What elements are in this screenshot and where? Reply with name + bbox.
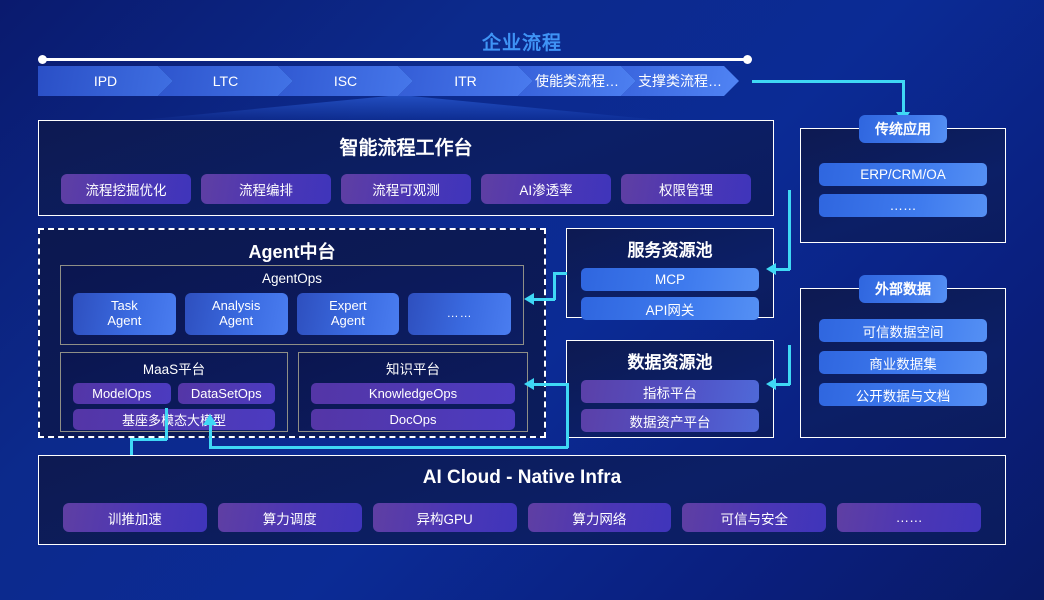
data-pool-item-asset[interactable]: 数据资产平台 — [581, 409, 759, 432]
maas-title: MaaS平台 — [61, 358, 287, 378]
knowledge-item-knowledgeops[interactable]: KnowledgeOps — [311, 383, 515, 404]
knowledge-title: 知识平台 — [299, 358, 527, 378]
chain-item-ipd[interactable]: IPD — [38, 66, 173, 96]
maas-item-datasetops[interactable]: DataSetOps — [178, 383, 276, 404]
chain-label: LTC — [213, 73, 238, 89]
service-pool-item-mcp[interactable]: MCP — [581, 268, 759, 291]
knowledge-item-docops[interactable]: DocOps — [311, 409, 515, 430]
workbench-items: 流程挖掘优化 流程编排 流程可观测 AI渗透率 权限管理 — [39, 174, 773, 204]
connector-data-to-hub-h — [534, 383, 567, 386]
agent-card-expert[interactable]: Expert Agent — [297, 293, 400, 335]
maas-item-foundation-model[interactable]: 基座多模态大模型 — [73, 409, 275, 430]
arrow-pool-to-maas — [203, 414, 217, 425]
data-pool-items: 指标平台 数据资产平台 — [567, 380, 773, 432]
connector-ext-to-data-h — [776, 383, 790, 386]
chain-item-ltc[interactable]: LTC — [158, 66, 293, 96]
knowledge-row-2: DocOps — [299, 409, 527, 430]
rail-dot-left — [38, 55, 47, 64]
traditional-app-item-erp[interactable]: ERP/CRM/OA — [819, 163, 987, 186]
chain-label: IPD — [94, 73, 117, 89]
connector-chain-to-trad — [752, 80, 904, 83]
agent-card-more[interactable]: …… — [408, 293, 511, 335]
service-pool-items: MCP API网关 — [567, 268, 773, 320]
maas-row-1: ModelOps DataSetOps — [61, 383, 287, 404]
agent-card-analysis[interactable]: Analysis Agent — [185, 293, 288, 335]
service-pool-title: 服务资源池 — [567, 236, 773, 261]
arrow-trad-to-svc — [766, 263, 776, 275]
chain-label: ITR — [454, 73, 477, 89]
connector-pool-to-maas-v1 — [566, 383, 569, 448]
agent-card-task[interactable]: Task Agent — [73, 293, 176, 335]
infra-item-more[interactable]: …… — [837, 503, 981, 532]
chain-label: 支撑类流程… — [638, 71, 722, 91]
connector-svc-to-hub-h2 — [534, 298, 555, 301]
connector-pool-to-maas-v2 — [209, 424, 212, 448]
connector-trad-to-svc-v — [788, 190, 791, 270]
infra-item-compute-scheduling[interactable]: 算力调度 — [218, 503, 362, 532]
workbench-item-permissions[interactable]: 权限管理 — [621, 174, 751, 204]
infra-item-compute-network[interactable]: 算力网络 — [528, 503, 672, 532]
agent-card-line1: Task — [111, 299, 138, 314]
chain-item-enabling[interactable]: 使能类流程… — [518, 66, 636, 96]
page-title: 企业流程 — [0, 28, 1044, 55]
connector-hub-to-infra-h — [130, 438, 167, 441]
infra-panel: AI Cloud - Native Infra 训推加速 算力调度 异构GPU … — [38, 455, 1006, 545]
knowledge-box: 知识平台 KnowledgeOps DocOps — [298, 352, 528, 432]
service-pool-item-api-gateway[interactable]: API网关 — [581, 297, 759, 320]
diagram-canvas: 企业流程 IPD LTC ISC ITR 使能类流程… 支撑类流程… 智能流程工… — [0, 0, 1044, 600]
connector-svc-to-hub-v — [553, 272, 556, 300]
agentops-cards: Task Agent Analysis Agent Expert Agent …… — [61, 293, 523, 335]
infra-item-trust-security[interactable]: 可信与安全 — [682, 503, 826, 532]
agent-card-line2: Agent — [331, 314, 365, 329]
agent-card-line1: Analysis — [212, 299, 260, 314]
chain-glow — [120, 96, 680, 122]
workbench-item-observability[interactable]: 流程可观测 — [341, 174, 471, 204]
agent-hub-title: Agent中台 — [40, 238, 544, 264]
workbench-panel: 智能流程工作台 流程挖掘优化 流程编排 流程可观测 AI渗透率 权限管理 — [38, 120, 774, 216]
infra-item-training-acceleration[interactable]: 训推加速 — [63, 503, 207, 532]
connector-trad-to-svc-h — [776, 268, 790, 271]
maas-row-2: 基座多模态大模型 — [61, 409, 287, 430]
traditional-app-items: ERP/CRM/OA …… — [801, 163, 1005, 217]
agentops-box: AgentOps Task Agent Analysis Agent Exper… — [60, 265, 524, 345]
process-chain: IPD LTC ISC ITR 使能类流程… 支撑类流程… — [38, 66, 724, 96]
external-data-item-commercial[interactable]: 商业数据集 — [819, 351, 987, 374]
agentops-title: AgentOps — [61, 271, 523, 286]
traditional-app-tag: 传统应用 — [859, 115, 947, 143]
chain-item-supporting[interactable]: 支撑类流程… — [621, 66, 739, 96]
rail-dot-right — [743, 55, 752, 64]
external-data-item-trusted-space[interactable]: 可信数据空间 — [819, 319, 987, 342]
maas-box: MaaS平台 ModelOps DataSetOps 基座多模态大模型 — [60, 352, 288, 432]
connector-hub-to-infra-v1 — [165, 408, 168, 440]
traditional-app-panel: 传统应用 ERP/CRM/OA …… — [800, 128, 1006, 243]
arrow-ext-to-data — [766, 378, 776, 390]
infra-title: AI Cloud - Native Infra — [39, 467, 1005, 489]
external-data-item-public-docs[interactable]: 公开数据与文档 — [819, 383, 987, 406]
chain-item-isc[interactable]: ISC — [278, 66, 413, 96]
agent-card-line1: Expert — [329, 299, 367, 314]
connector-chain-to-trad-v — [902, 80, 905, 114]
knowledge-row-1: KnowledgeOps — [299, 383, 527, 404]
external-data-tag: 外部数据 — [859, 275, 947, 303]
traditional-app-item-more[interactable]: …… — [819, 194, 987, 217]
infra-item-heterogeneous-gpu[interactable]: 异构GPU — [373, 503, 517, 532]
workbench-item-orchestration[interactable]: 流程编排 — [201, 174, 331, 204]
connector-svc-to-hub-h1 — [553, 272, 567, 275]
maas-item-modelops[interactable]: ModelOps — [73, 383, 171, 404]
workbench-item-ai-penetration[interactable]: AI渗透率 — [481, 174, 611, 204]
agent-card-line1: …… — [447, 307, 473, 320]
chain-item-itr[interactable]: ITR — [398, 66, 533, 96]
connector-pool-to-maas-h — [209, 446, 568, 449]
infra-items: 训推加速 算力调度 异构GPU 算力网络 可信与安全 …… — [39, 503, 1005, 532]
process-rail — [40, 58, 750, 61]
data-pool-title: 数据资源池 — [567, 348, 773, 373]
agent-card-line2: Agent — [107, 314, 141, 329]
workbench-item-process-mining[interactable]: 流程挖掘优化 — [61, 174, 191, 204]
connector-ext-to-data-v — [788, 345, 791, 385]
external-data-panel: 外部数据 可信数据空间 商业数据集 公开数据与文档 — [800, 288, 1006, 438]
data-pool-panel: 数据资源池 指标平台 数据资产平台 — [566, 340, 774, 438]
service-pool-panel: 服务资源池 MCP API网关 — [566, 228, 774, 318]
chain-label: 使能类流程… — [535, 71, 619, 91]
arrow-data-to-hub — [524, 378, 534, 390]
data-pool-item-metrics[interactable]: 指标平台 — [581, 380, 759, 403]
agent-hub-panel: Agent中台 AgentOps Task Agent Analysis Age… — [38, 228, 546, 438]
external-data-items: 可信数据空间 商业数据集 公开数据与文档 — [801, 319, 1005, 406]
agent-card-line2: Agent — [219, 314, 253, 329]
chain-label: ISC — [334, 73, 357, 89]
workbench-title: 智能流程工作台 — [39, 133, 773, 160]
arrow-svc-to-hub — [524, 293, 534, 305]
